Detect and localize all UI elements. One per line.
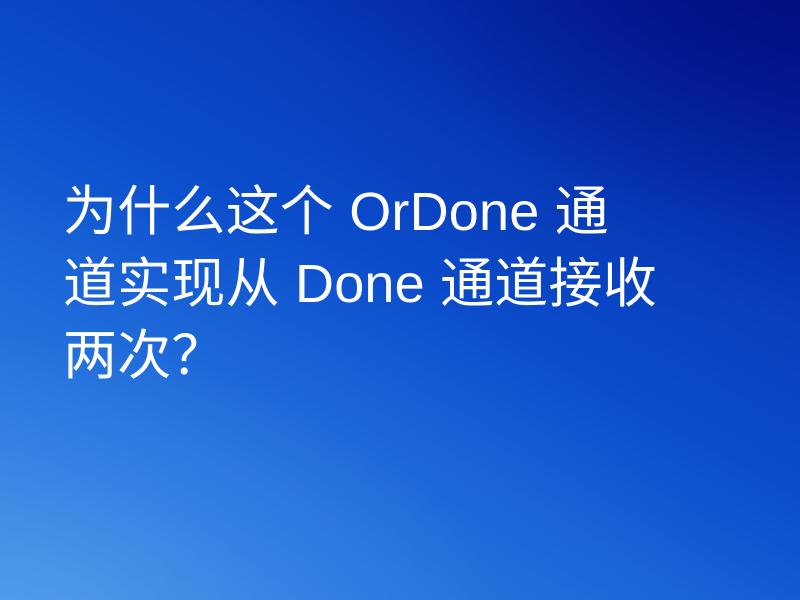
page-title: 为什么这个 OrDone 通道实现从 Done 通道接收两次？ xyxy=(63,176,663,392)
title-block: 为什么这个 OrDone 通道实现从 Done 通道接收两次？ xyxy=(63,176,663,392)
slide-canvas: 为什么这个 OrDone 通道实现从 Done 通道接收两次？ xyxy=(0,0,800,600)
